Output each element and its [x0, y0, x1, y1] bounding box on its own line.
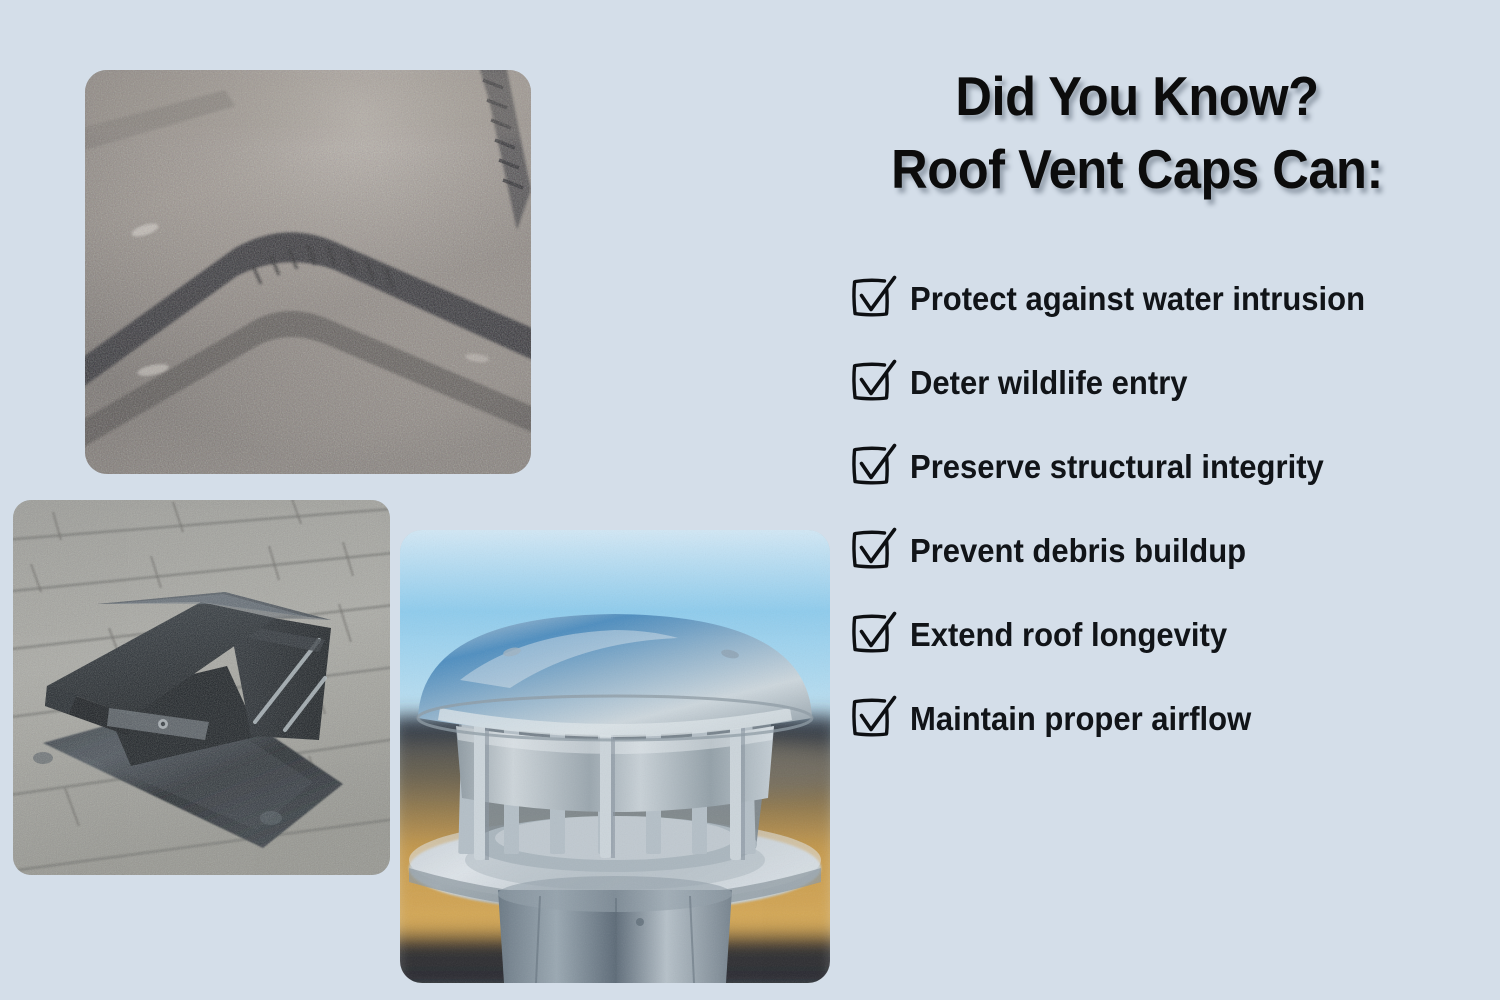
photo-black-box-roof-vent: [13, 500, 390, 875]
checkbox-checked-icon: [850, 610, 898, 658]
list-item: Protect against water intrusion: [850, 256, 1450, 340]
benefits-checklist: Protect against water intrusion Deter wi…: [850, 256, 1450, 760]
list-item: Prevent debris buildup: [850, 508, 1450, 592]
list-item: Maintain proper airflow: [850, 676, 1450, 760]
list-item: Deter wildlife entry: [850, 340, 1450, 424]
list-item: Preserve structural integrity: [850, 424, 1450, 508]
infographic-canvas: Did You Know? Roof Vent Caps Can: Protec…: [0, 0, 1500, 1000]
content-panel: Did You Know? Roof Vent Caps Can: Protec…: [820, 60, 1440, 780]
checkbox-checked-icon: [850, 526, 898, 574]
list-item-label: Extend roof longevity: [910, 618, 1227, 651]
checkbox-checked-icon: [850, 358, 898, 406]
list-item-label: Prevent debris buildup: [910, 534, 1246, 567]
list-item-label: Preserve structural integrity: [910, 450, 1324, 483]
photo-galvanized-chimney-vent-cap: [400, 530, 830, 983]
checkbox-checked-icon: [850, 274, 898, 322]
list-item: Extend roof longevity: [850, 592, 1450, 676]
headline-line-2: Roof Vent Caps Can:: [858, 133, 1416, 206]
photo-ridge-vent-on-shingles: [85, 70, 531, 474]
checkbox-checked-icon: [850, 694, 898, 742]
page-title: Did You Know? Roof Vent Caps Can:: [820, 60, 1440, 206]
checkbox-checked-icon: [850, 442, 898, 490]
list-item-label: Maintain proper airflow: [910, 702, 1251, 735]
list-item-label: Protect against water intrusion: [910, 282, 1365, 315]
headline-line-1: Did You Know?: [858, 60, 1416, 133]
list-item-label: Deter wildlife entry: [910, 366, 1188, 399]
